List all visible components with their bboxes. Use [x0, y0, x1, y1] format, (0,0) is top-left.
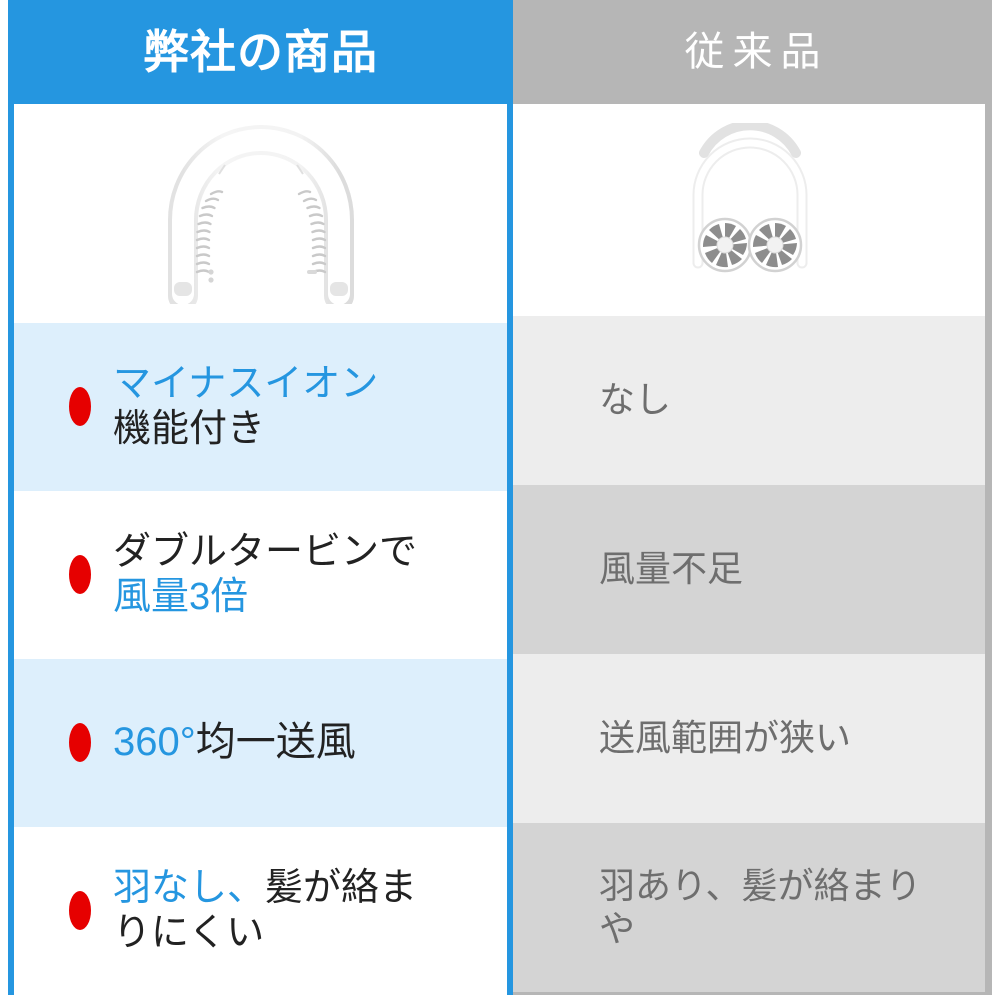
feature-row-2-ours-text: ダブルタービンで 風量3倍 — [113, 530, 417, 620]
header-conventional-product: 従来品 — [513, 0, 992, 104]
feature-row-3-theirs-text: 送風範囲が狭い — [599, 717, 851, 759]
circle-check-icon — [69, 566, 91, 584]
feature-row-4-ours-highlight: 羽なし、 — [113, 867, 265, 909]
feature-row-2-ours: ダブルタービンで 風量3倍 — [14, 491, 507, 659]
column-our-product-body: マイナスイオン 機能付き ダブルタービンで 風量3倍 360°均一送風 — [8, 104, 513, 995]
feature-row-3-ours: 360°均一送風 — [14, 659, 507, 827]
column-conventional-product-body: なし 風量不足 送風範囲が狭い 羽あり、髪が絡まりや — [513, 104, 992, 995]
our-product-image-cell — [14, 104, 507, 323]
feature-row-2-ours-lead: ダブルタービンで — [113, 531, 417, 573]
feature-row-1-theirs: なし — [513, 316, 985, 485]
feature-row-1-theirs-text: なし — [599, 379, 671, 421]
header-our-product: 弊社の商品 — [8, 0, 513, 104]
feature-row-2-theirs: 風量不足 — [513, 485, 985, 654]
circle-check-icon — [69, 734, 91, 752]
feature-row-1-ours-text: マイナスイオン 機能付き — [113, 362, 378, 452]
circle-check-icon — [69, 902, 91, 920]
header-conventional-product-label: 従来品 — [677, 32, 829, 72]
feature-row-3-theirs: 送風範囲が狭い — [513, 654, 985, 823]
column-conventional-product: 従来品 — [513, 0, 992, 995]
feature-row-1-ours-highlight: マイナスイオン — [113, 363, 378, 405]
product-comparison-table: 弊社の商品 — [0, 0, 1000, 1000]
feature-row-1-ours: マイナスイオン 機能付き — [14, 323, 507, 491]
neck-fan-bladed-image — [662, 123, 837, 298]
feature-row-3-ours-text: 360°均一送風 — [113, 719, 356, 766]
feature-row-2-ours-highlight: 風量3倍 — [113, 576, 248, 618]
feature-row-4-ours: 羽なし、髪が絡まりにくい — [14, 827, 507, 995]
neck-fan-bladeless-image — [131, 124, 391, 304]
column-our-product: 弊社の商品 — [8, 0, 513, 995]
feature-row-2-theirs-text: 風量不足 — [599, 548, 743, 590]
conventional-product-image-cell — [513, 104, 985, 316]
feature-row-3-ours-highlight: 360° — [113, 720, 196, 764]
feature-row-4-ours-text: 羽なし、髪が絡まりにくい — [113, 866, 443, 956]
circle-check-icon — [69, 398, 91, 416]
header-our-product-label: 弊社の商品 — [143, 29, 378, 75]
feature-row-4-theirs-text: 羽あり、髪が絡まりや — [599, 865, 929, 950]
feature-row-3-ours-rest: 均一送風 — [196, 720, 356, 764]
feature-row-4-theirs: 羽あり、髪が絡まりや — [513, 823, 985, 992]
feature-row-1-ours-rest: 機能付き — [113, 408, 265, 450]
